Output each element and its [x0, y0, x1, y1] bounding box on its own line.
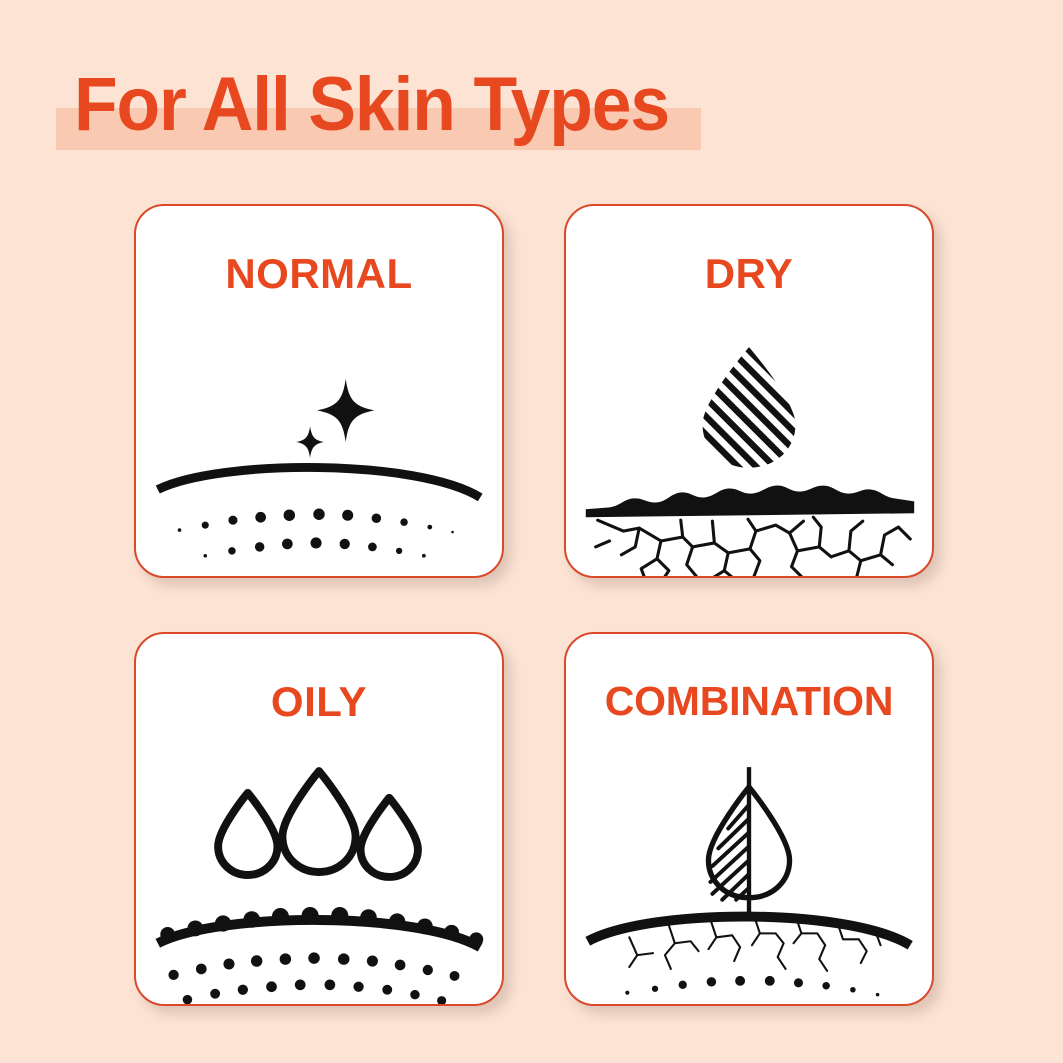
skin-type-card-oily[interactable]: OILY: [134, 632, 504, 1006]
card-label-normal: NORMAL: [136, 250, 502, 298]
smooth-skin-sparkle-icon: [136, 316, 502, 576]
page-title: For All Skin Types: [74, 62, 669, 148]
skin-type-card-normal[interactable]: NORMAL: [134, 204, 504, 578]
card-label-dry: DRY: [566, 250, 932, 298]
page-header: For All Skin Types: [0, 62, 1063, 162]
skin-type-card-grid: NORMAL: [134, 204, 934, 1004]
skin-type-card-combination[interactable]: COMBINATION: [564, 632, 934, 1006]
three-droplets-bumpy-skin-icon: [136, 744, 502, 1004]
half-hatched-droplet-split-skin-icon: [566, 744, 932, 1004]
card-label-oily: OILY: [136, 678, 502, 726]
skin-type-card-dry[interactable]: DRY: [564, 204, 934, 578]
card-label-combination: COMBINATION: [566, 678, 932, 725]
hatched-droplet-cracked-skin-icon: [566, 316, 932, 576]
